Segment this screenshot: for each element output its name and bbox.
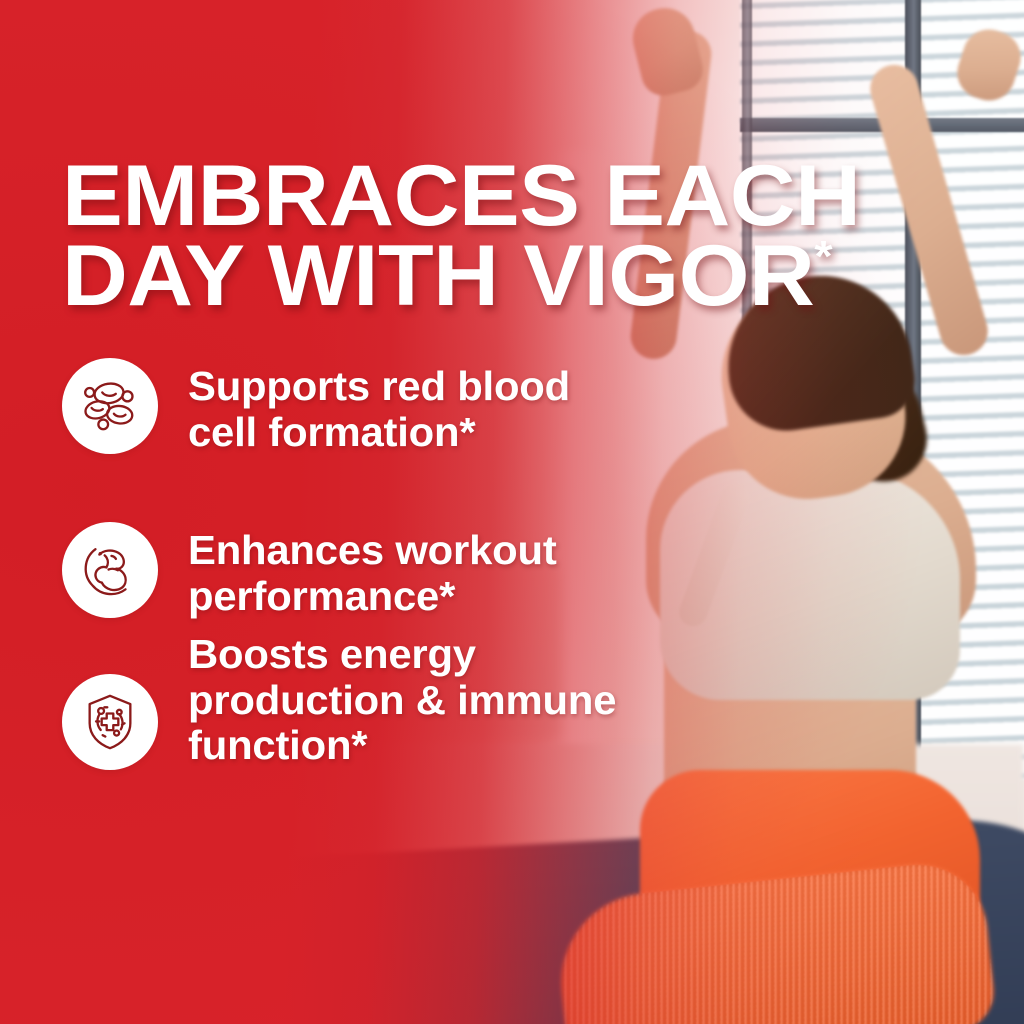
banner-content: EMBRACES EACH DAY WITH VIGOR* [0, 0, 1024, 1024]
flexed-bicep-icon [79, 539, 141, 601]
headline-asterisk: * [814, 232, 832, 281]
benefit-icon-circle [62, 358, 158, 454]
benefit-label: Enhances workout performance* [188, 526, 557, 620]
benefits-list: Supports red blood cell formation* [62, 358, 662, 770]
benefit-item: Boosts energy production & immune functi… [62, 674, 662, 770]
shield-medical-cross-icon [79, 691, 141, 753]
supplement-benefits-banner: EMBRACES EACH DAY WITH VIGOR* [0, 0, 1024, 1024]
headline: EMBRACES EACH DAY WITH VIGOR* [62, 156, 1016, 318]
benefit-icon-circle [62, 674, 158, 770]
benefit-label: Boosts energy production & immune functi… [188, 630, 616, 770]
benefit-label: Supports red blood cell formation* [188, 362, 570, 456]
benefit-item: Supports red blood cell formation* [62, 358, 662, 456]
red-blood-cells-icon [79, 375, 141, 437]
headline-text: EMBRACES EACH DAY WITH VIGOR [62, 148, 860, 325]
benefit-item: Enhances workout performance* [62, 522, 662, 620]
benefit-icon-circle [62, 522, 158, 618]
